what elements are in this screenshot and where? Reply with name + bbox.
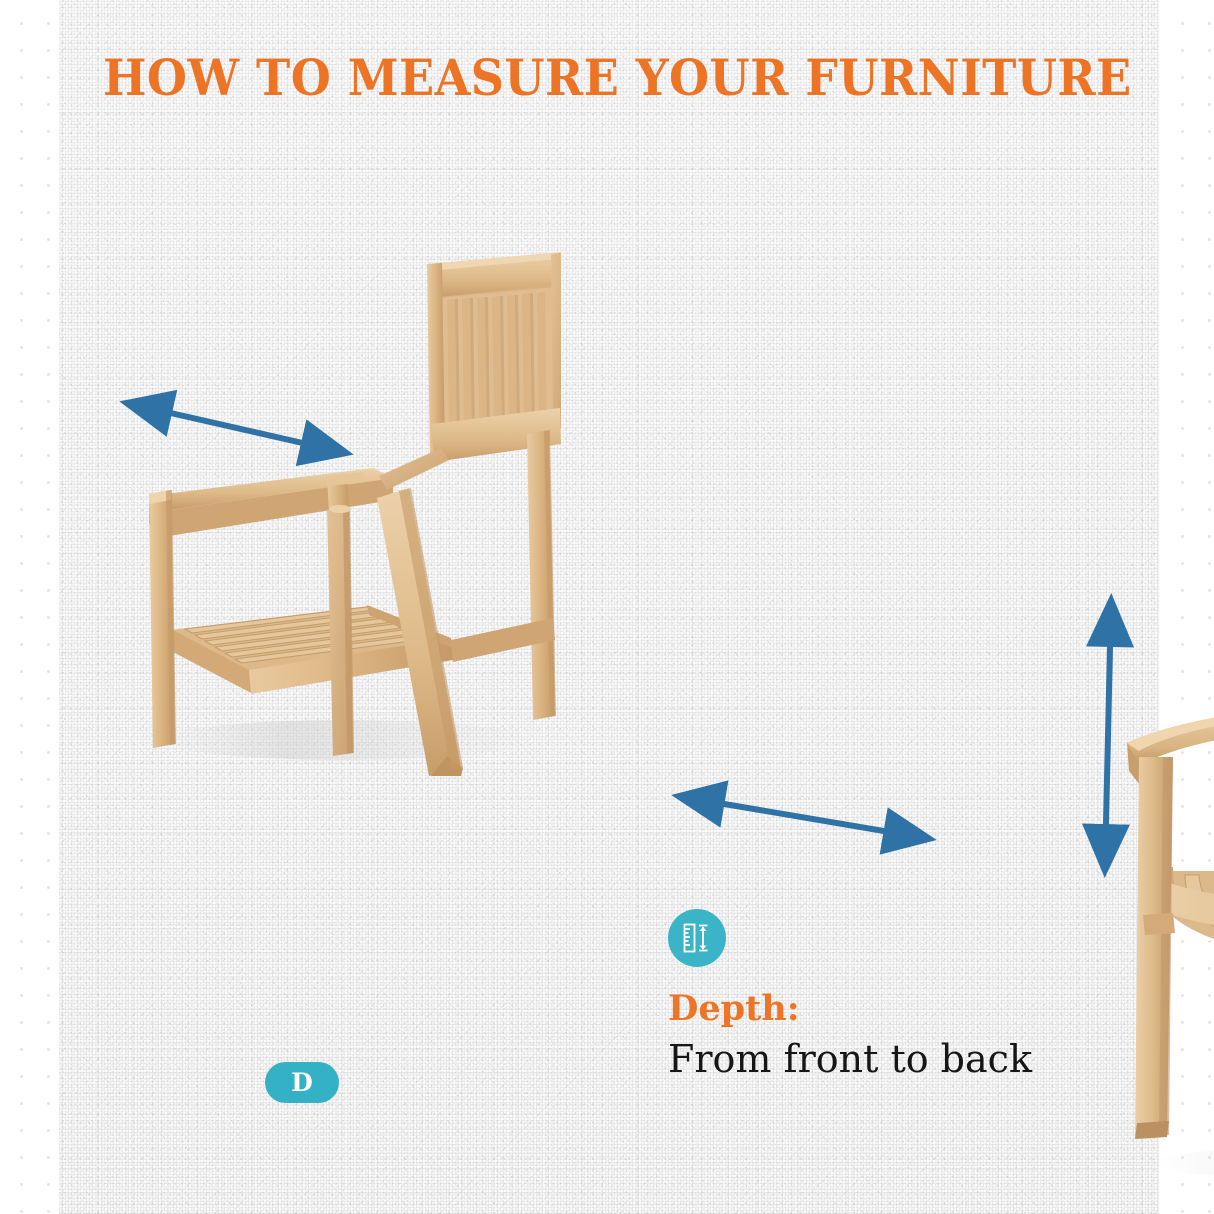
vertical-ruler-arrow-icon	[668, 909, 726, 967]
depth-description: From front to back	[668, 1040, 1214, 1078]
width-arrow	[683, 797, 925, 838]
height-arrow	[1105, 605, 1111, 866]
depth-arrow	[131, 404, 342, 452]
depth-dimension-pill: D	[265, 1062, 339, 1103]
infographic-page: HOW TO MEASURE YOUR FURNITURE	[0, 0, 1214, 1214]
depth-term: Depth:	[668, 991, 1214, 1026]
measurement-block-depth: Depth: From front to back	[668, 909, 1214, 1078]
textured-panel: HOW TO MEASURE YOUR FURNITURE	[59, 0, 1159, 1214]
